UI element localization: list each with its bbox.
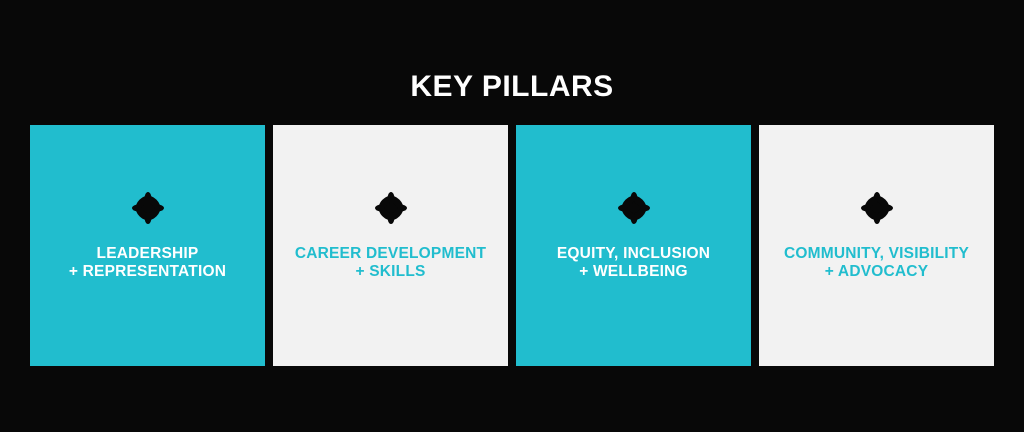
pillar-card-label: CAREER DEVELOPMENT + SKILLS: [279, 245, 502, 281]
asterisk-flower-icon: [131, 191, 165, 225]
pillar-card-equity-inclusion[interactable]: EQUITY, INCLUSION + WELLBEING: [516, 125, 751, 366]
pillar-card-row: LEADERSHIP + REPRESENTATION: [30, 125, 994, 366]
pillar-card-label: LEADERSHIP + REPRESENTATION: [36, 245, 259, 281]
pillar-card-label: EQUITY, INCLUSION + WELLBEING: [522, 245, 745, 281]
pillar-card-label: COMMUNITY, VISIBILITY + ADVOCACY: [765, 245, 988, 281]
asterisk-flower-icon: [374, 191, 408, 225]
pillar-card-community-visibility[interactable]: COMMUNITY, VISIBILITY + ADVOCACY: [759, 125, 994, 366]
pillar-card-leadership[interactable]: LEADERSHIP + REPRESENTATION: [30, 125, 265, 366]
asterisk-flower-icon: [860, 191, 894, 225]
asterisk-flower-icon: [617, 191, 651, 225]
pillar-card-career-development[interactable]: CAREER DEVELOPMENT + SKILLS: [273, 125, 508, 366]
page-title: KEY PILLARS: [0, 70, 1024, 104]
key-pillars-slide: KEY PILLARS L: [0, 0, 1024, 432]
